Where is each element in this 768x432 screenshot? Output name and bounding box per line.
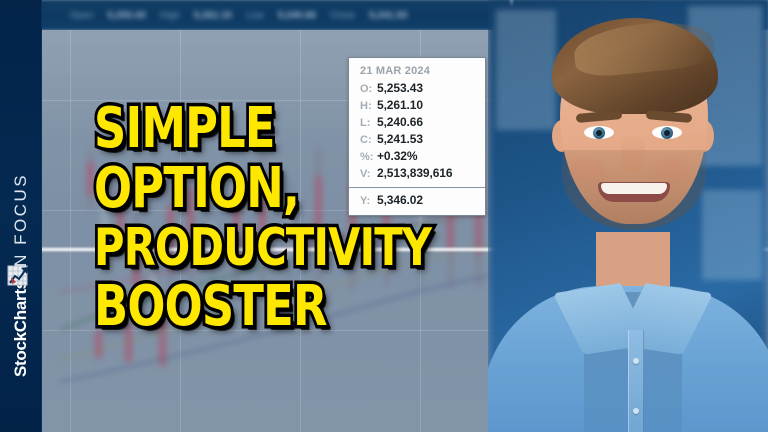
title-line-1: SIMPLE bbox=[94, 100, 430, 158]
presenter-cheek-right bbox=[654, 160, 688, 182]
presenter-cheek-left bbox=[570, 160, 604, 182]
presenter-shirt-placket bbox=[628, 330, 644, 432]
title-line-3: PRODUCTIVITY bbox=[94, 220, 430, 276]
video-title: SIMPLE OPTION, PRODUCTIVITY BOOSTER bbox=[94, 100, 514, 336]
title-line-4: BOOSTER bbox=[94, 278, 430, 336]
chart-header-quote-text: Open 5,253.43 High 5,261.10 Low 5,240.66… bbox=[70, 7, 530, 22]
presenter-eye-right bbox=[652, 126, 682, 139]
tooltip-date: 21 MAR 2024 bbox=[349, 65, 485, 80]
tooltip-value-open: 5,253.43 bbox=[377, 81, 423, 95]
brand-subtitle: IN FOCUS bbox=[11, 173, 31, 274]
header-field-close-label: Close bbox=[330, 10, 355, 20]
presenter-video-overlay bbox=[488, 0, 768, 432]
chart-arrow-icon bbox=[7, 264, 31, 288]
header-field-open-label: Open bbox=[70, 10, 94, 20]
brand-lockup: StockCharts IN FOCUS bbox=[0, 145, 42, 377]
thumbnail-stage: Open 5,253.43 High 5,261.10 Low 5,240.66… bbox=[0, 0, 768, 432]
presenter-mouth bbox=[598, 182, 670, 202]
brand-name: StockCharts bbox=[11, 280, 31, 377]
shirt-button bbox=[633, 358, 639, 364]
header-field-low-value: 5,240.66 bbox=[278, 10, 316, 20]
header-field-high-value: 5,261.10 bbox=[194, 10, 232, 20]
presenter-eye-left bbox=[584, 126, 614, 139]
tooltip-key-open: O: bbox=[360, 82, 377, 96]
shirt-button bbox=[633, 408, 639, 414]
brand-rail: StockCharts IN FOCUS bbox=[0, 0, 42, 432]
header-field-open-value: 5,253.43 bbox=[108, 10, 146, 20]
title-line-2: OPTION, bbox=[94, 160, 430, 218]
tooltip-row-open: O: 5,253.43 bbox=[349, 80, 485, 97]
presenter-nose bbox=[621, 134, 645, 174]
header-field-low-label: Low bbox=[246, 10, 264, 20]
header-field-close-value: 5,241.53 bbox=[369, 10, 407, 20]
backdrop-panel bbox=[702, 190, 762, 280]
header-field-high-label: High bbox=[160, 10, 180, 20]
